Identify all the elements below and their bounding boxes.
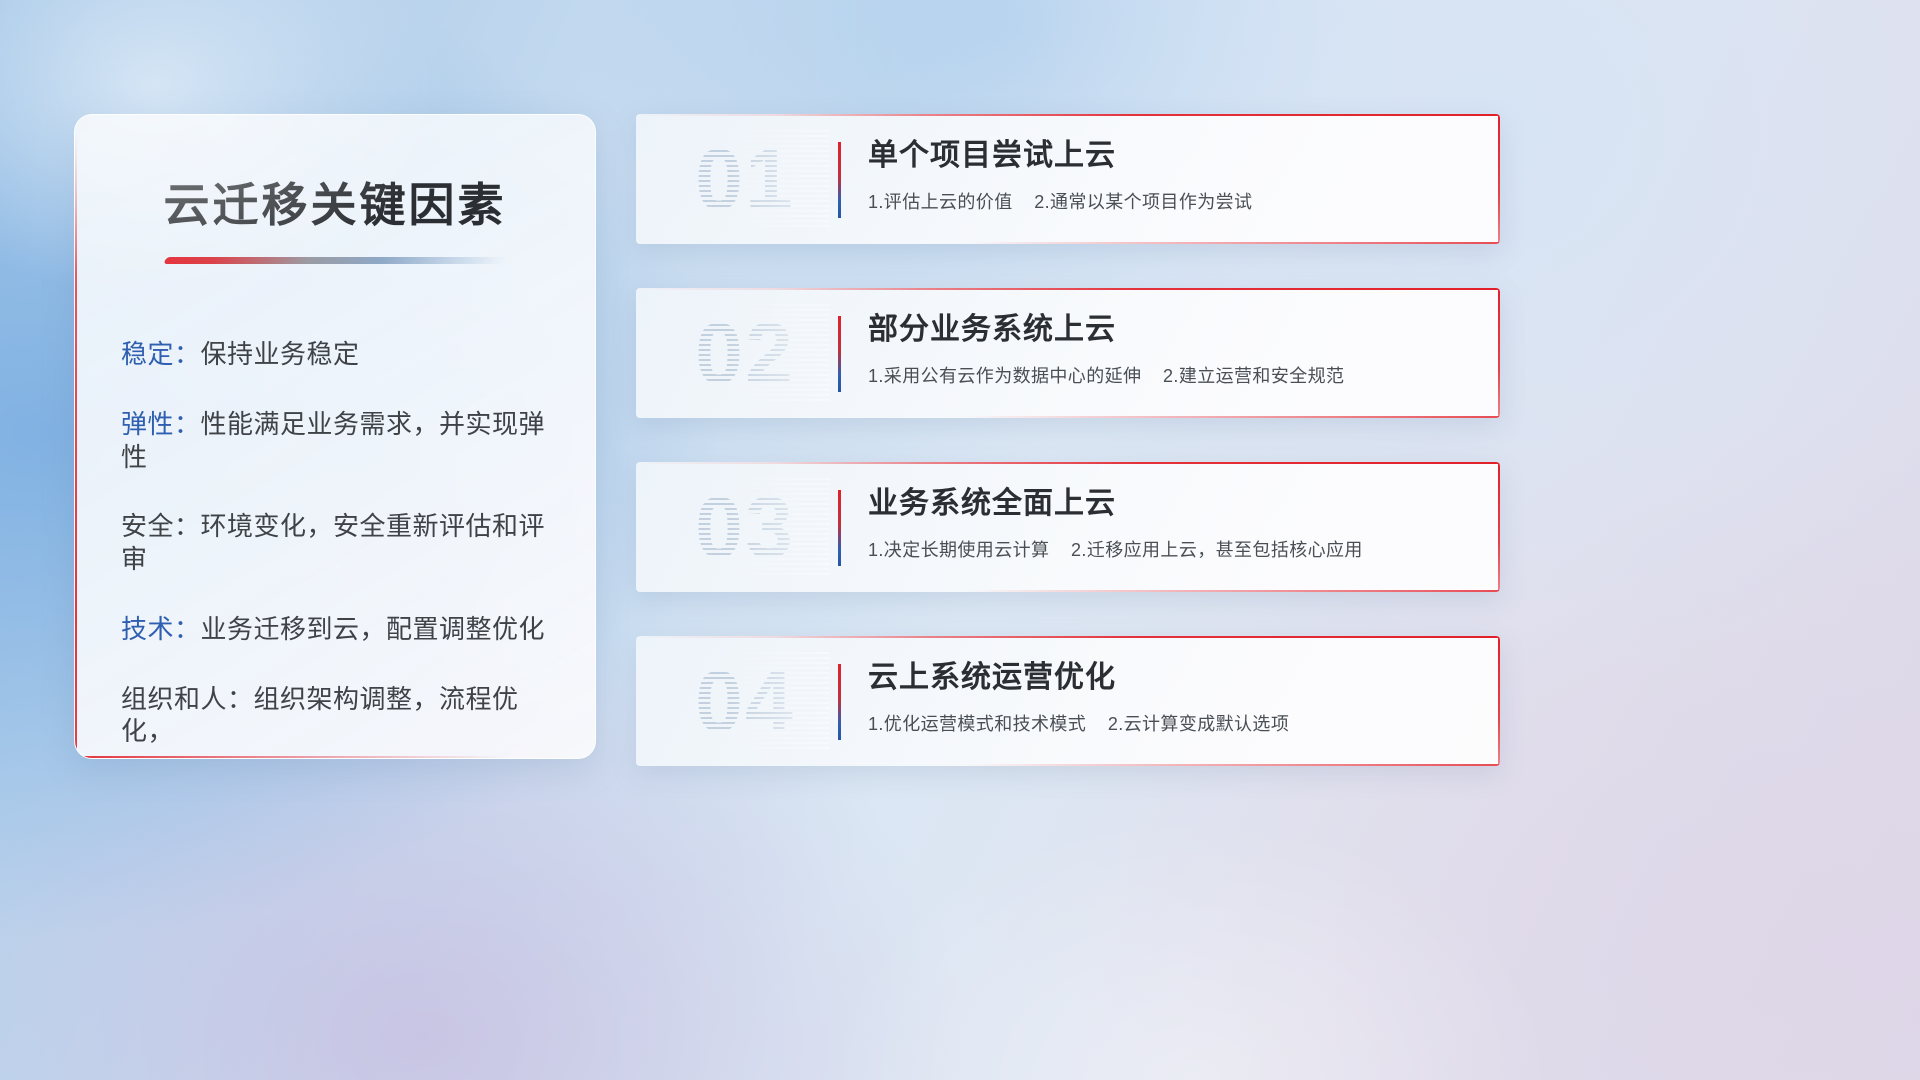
key-factors-panel: 云迁移关键因素 稳定：保持业务稳定 弹性：性能满足业务需求，并实现弹性 安全：环… [74,114,596,759]
factor-text: 保持业务稳定 [201,339,360,369]
migration-stage-cards: 01 单个项目尝试上云 1.评估上云的价值 2.通常以某个项目作为尝试 02 部… [636,114,1500,766]
factor-text: 业务迁移到云，配置调整优化 [201,614,546,644]
stage-number-01: 01 [660,130,830,230]
card-subtitle: 1.决定长期使用云计算 2.迁移应用上云，甚至包括核心应用 [868,536,1472,562]
stage-number-03: 03 [660,478,830,578]
card-top-accent-line [636,288,1500,290]
card-body: 业务系统全面上云 1.决定长期使用云计算 2.迁移应用上云，甚至包括核心应用 [868,486,1472,562]
card-right-accent-line [1498,462,1500,592]
card-title: 单个项目尝试上云 [868,138,1472,174]
panel-bottom-accent-line [77,756,505,758]
factor-label: 组织和人： [121,684,254,714]
stage-number-02: 02 [660,304,830,404]
card-subtitle: 1.评估上云的价值 2.通常以某个项目作为尝试 [868,188,1472,214]
card-bottom-accent-line [964,590,1500,592]
card-top-accent-line [636,462,1500,464]
key-factors-list: 稳定：保持业务稳定 弹性：性能满足业务需求，并实现弹性 安全：环境变化，安全重新… [75,338,595,759]
title-underline-accent [163,257,506,264]
card-right-accent-line [1498,288,1500,418]
card-right-accent-line [1498,636,1500,766]
card-body: 云上系统运营优化 1.优化运营模式和技术模式 2.云计算变成默认选项 [868,660,1472,736]
factor-label: 稳定： [121,339,201,369]
card-divider-bar [838,316,841,392]
factor-label: 技术： [121,614,201,644]
page-title: 云迁移关键因素 [75,169,595,235]
list-item: 技术：业务迁移到云，配置调整优化 [121,613,555,646]
list-item: 组织和人：组织架构调整，流程优化， [121,683,555,749]
card-title: 云上系统运营优化 [868,660,1472,696]
card-bottom-accent-line [964,764,1500,766]
stage-card-02[interactable]: 02 部分业务系统上云 1.采用公有云作为数据中心的延伸 2.建立运营和安全规范 [636,288,1500,418]
card-subtitle: 1.优化运营模式和技术模式 2.云计算变成默认选项 [868,710,1472,736]
list-item: 弹性：性能满足业务需求，并实现弹性 [121,408,555,474]
card-title: 业务系统全面上云 [868,486,1472,522]
card-bottom-accent-line [964,242,1500,244]
list-item: 安全：环境变化，安全重新评估和评审 [121,510,555,576]
card-body: 部分业务系统上云 1.采用公有云作为数据中心的延伸 2.建立运营和安全规范 [868,312,1472,388]
stage-card-04[interactable]: 04 云上系统运营优化 1.优化运营模式和技术模式 2.云计算变成默认选项 [636,636,1500,766]
card-body: 单个项目尝试上云 1.评估上云的价值 2.通常以某个项目作为尝试 [868,138,1472,214]
card-bottom-accent-line [964,416,1500,418]
card-divider-bar [838,664,841,740]
card-title: 部分业务系统上云 [868,312,1472,348]
card-subtitle: 1.采用公有云作为数据中心的延伸 2.建立运营和安全规范 [868,362,1472,388]
factor-label: 安全： [121,511,201,541]
panel-left-accent-line [75,133,77,758]
card-right-accent-line [1498,114,1500,244]
stage-card-03[interactable]: 03 业务系统全面上云 1.决定长期使用云计算 2.迁移应用上云，甚至包括核心应… [636,462,1500,592]
card-top-accent-line [636,114,1500,116]
card-divider-bar [838,142,841,218]
factor-label: 弹性： [121,409,201,439]
card-top-accent-line [636,636,1500,638]
stage-card-01[interactable]: 01 单个项目尝试上云 1.评估上云的价值 2.通常以某个项目作为尝试 [636,114,1500,244]
slide-canvas: 云迁移关键因素 稳定：保持业务稳定 弹性：性能满足业务需求，并实现弹性 安全：环… [0,0,1920,1080]
card-divider-bar [838,490,841,566]
stage-number-04: 04 [660,652,830,752]
list-item: 稳定：保持业务稳定 [121,338,555,371]
